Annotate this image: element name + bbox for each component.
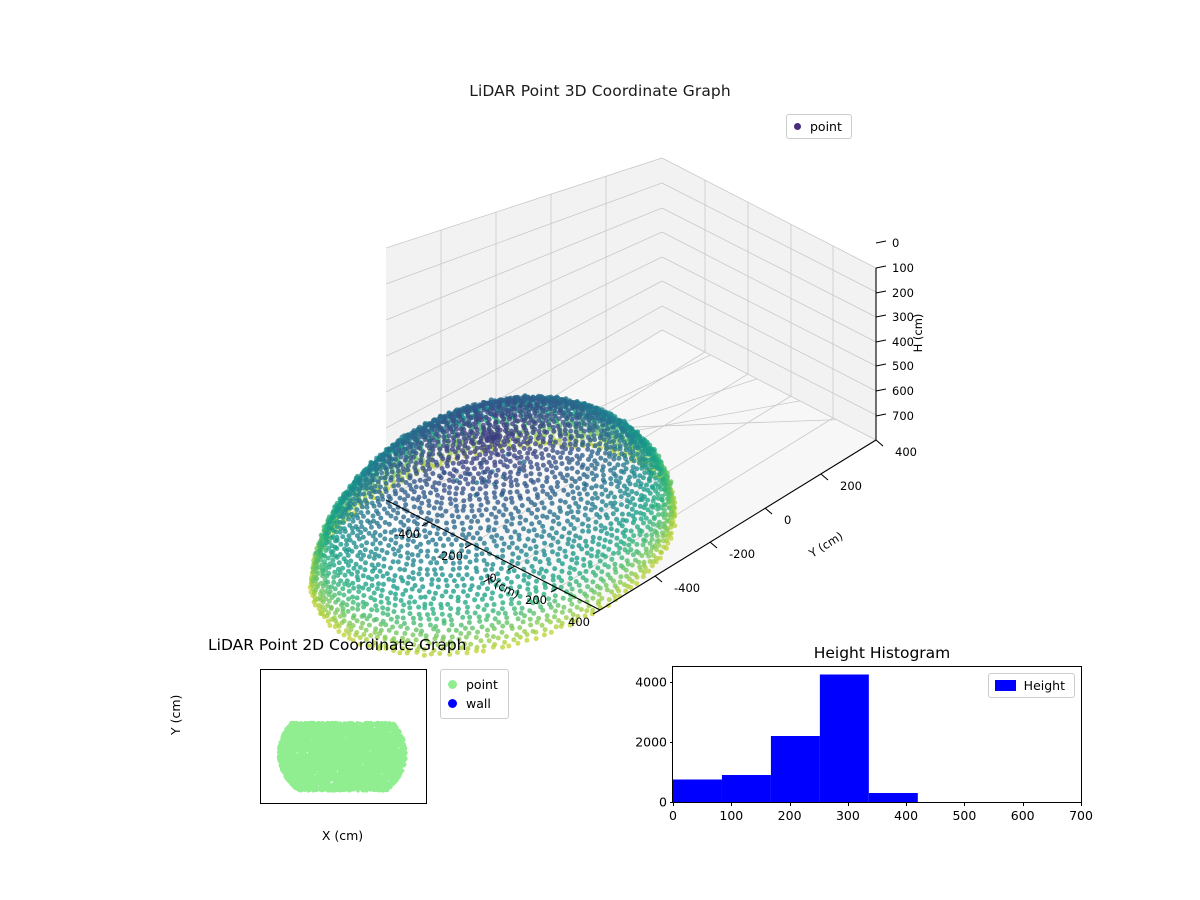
chart-3d-axes[interactable]: -400 -200 0 200 400 X (cm) -400 -200 0 2… <box>300 140 920 620</box>
tick-z-700: 700 <box>892 409 914 423</box>
tick-hist-x-300: 300 <box>836 808 860 823</box>
point-cloud-2d <box>277 721 408 793</box>
legend-hist: Height <box>988 673 1075 698</box>
tick-hist-y-0: 0 <box>659 795 667 810</box>
axis-label-z: H (cm) <box>911 314 925 353</box>
tick-y--400: -400 <box>674 581 700 595</box>
tick-z-0: 0 <box>892 236 899 250</box>
legend-marker-point <box>448 680 457 689</box>
chart-2d-panel: LiDAR Point 2D Coordinate Graph 500 0 -5… <box>150 636 570 866</box>
chart-2d-title: LiDAR Point 2D Coordinate Graph <box>208 636 466 654</box>
chart-hist-panel: Height Histogram Height 0 2000 4000 0 10… <box>600 636 1120 866</box>
legend-2d-row-wall: wall <box>448 694 498 713</box>
legend-2d-row-point: point <box>448 675 498 694</box>
histogram-bar <box>771 736 820 802</box>
legend-marker-wall <box>448 699 457 708</box>
tick-z-500: 500 <box>892 359 914 373</box>
tick-x-400: 400 <box>568 615 590 629</box>
chart-2d-axes[interactable]: 500 0 -500 -500 0 500 <box>260 669 427 804</box>
tick-hist-x-700: 700 <box>1069 808 1093 823</box>
tick-y-400: 400 <box>895 445 917 459</box>
tick-z-100: 100 <box>892 261 914 275</box>
tick-hist-y-4000: 4000 <box>635 675 667 690</box>
tick-x--400: -400 <box>394 527 420 541</box>
chart-2d-canvas <box>261 670 426 803</box>
tick-hist-x-500: 500 <box>952 808 976 823</box>
legend-label-point: point <box>810 119 842 134</box>
chart-3d-title: LiDAR Point 3D Coordinate Graph <box>0 82 1200 100</box>
legend-swatch-height <box>995 680 1016 691</box>
tick-hist-x-100: 100 <box>719 808 743 823</box>
tick-z-600: 600 <box>892 384 914 398</box>
chart-hist-title: Height Histogram <box>672 644 1092 662</box>
tick-hist-x-0: 0 <box>669 808 677 823</box>
histogram-bar <box>673 780 722 803</box>
legend-label-point: point <box>466 677 498 692</box>
histogram-bar <box>722 775 771 802</box>
chart-hist-axes[interactable]: Height 0 2000 4000 0 100 200 300 400 500… <box>672 666 1082 803</box>
axis-label-y: Y (cm) <box>806 529 846 561</box>
tick-y-0: 0 <box>784 513 791 527</box>
legend-marker-point <box>794 123 801 130</box>
histogram-bars <box>673 675 918 803</box>
matplotlib-figure: LiDAR Point 3D Coordinate Graph point <box>0 0 1200 900</box>
legend-label-wall: wall <box>466 696 491 711</box>
tick-hist-x-200: 200 <box>778 808 802 823</box>
tick-x-200: 200 <box>525 593 547 607</box>
tick-hist-y-2000: 2000 <box>635 735 667 750</box>
legend-2d: point wall <box>440 669 509 719</box>
tick-y--200: -200 <box>729 547 755 561</box>
tick-hist-x-600: 600 <box>1011 808 1035 823</box>
legend-3d: point <box>786 114 852 139</box>
tick-hist-x-400: 400 <box>894 808 918 823</box>
chart-3d-canvas: -400 -200 0 200 400 X (cm) -400 -200 0 2… <box>300 140 920 620</box>
histogram-bar <box>820 675 869 803</box>
legend-label-height: Height <box>1024 678 1065 693</box>
tick-y-200: 200 <box>840 479 862 493</box>
tick-x--200: -200 <box>437 549 463 563</box>
axis-label-2d-x: X (cm) <box>260 828 425 843</box>
tick-z-200: 200 <box>892 286 914 300</box>
axis-label-2d-y: Y (cm) <box>168 695 183 735</box>
histogram-bar <box>869 793 918 802</box>
